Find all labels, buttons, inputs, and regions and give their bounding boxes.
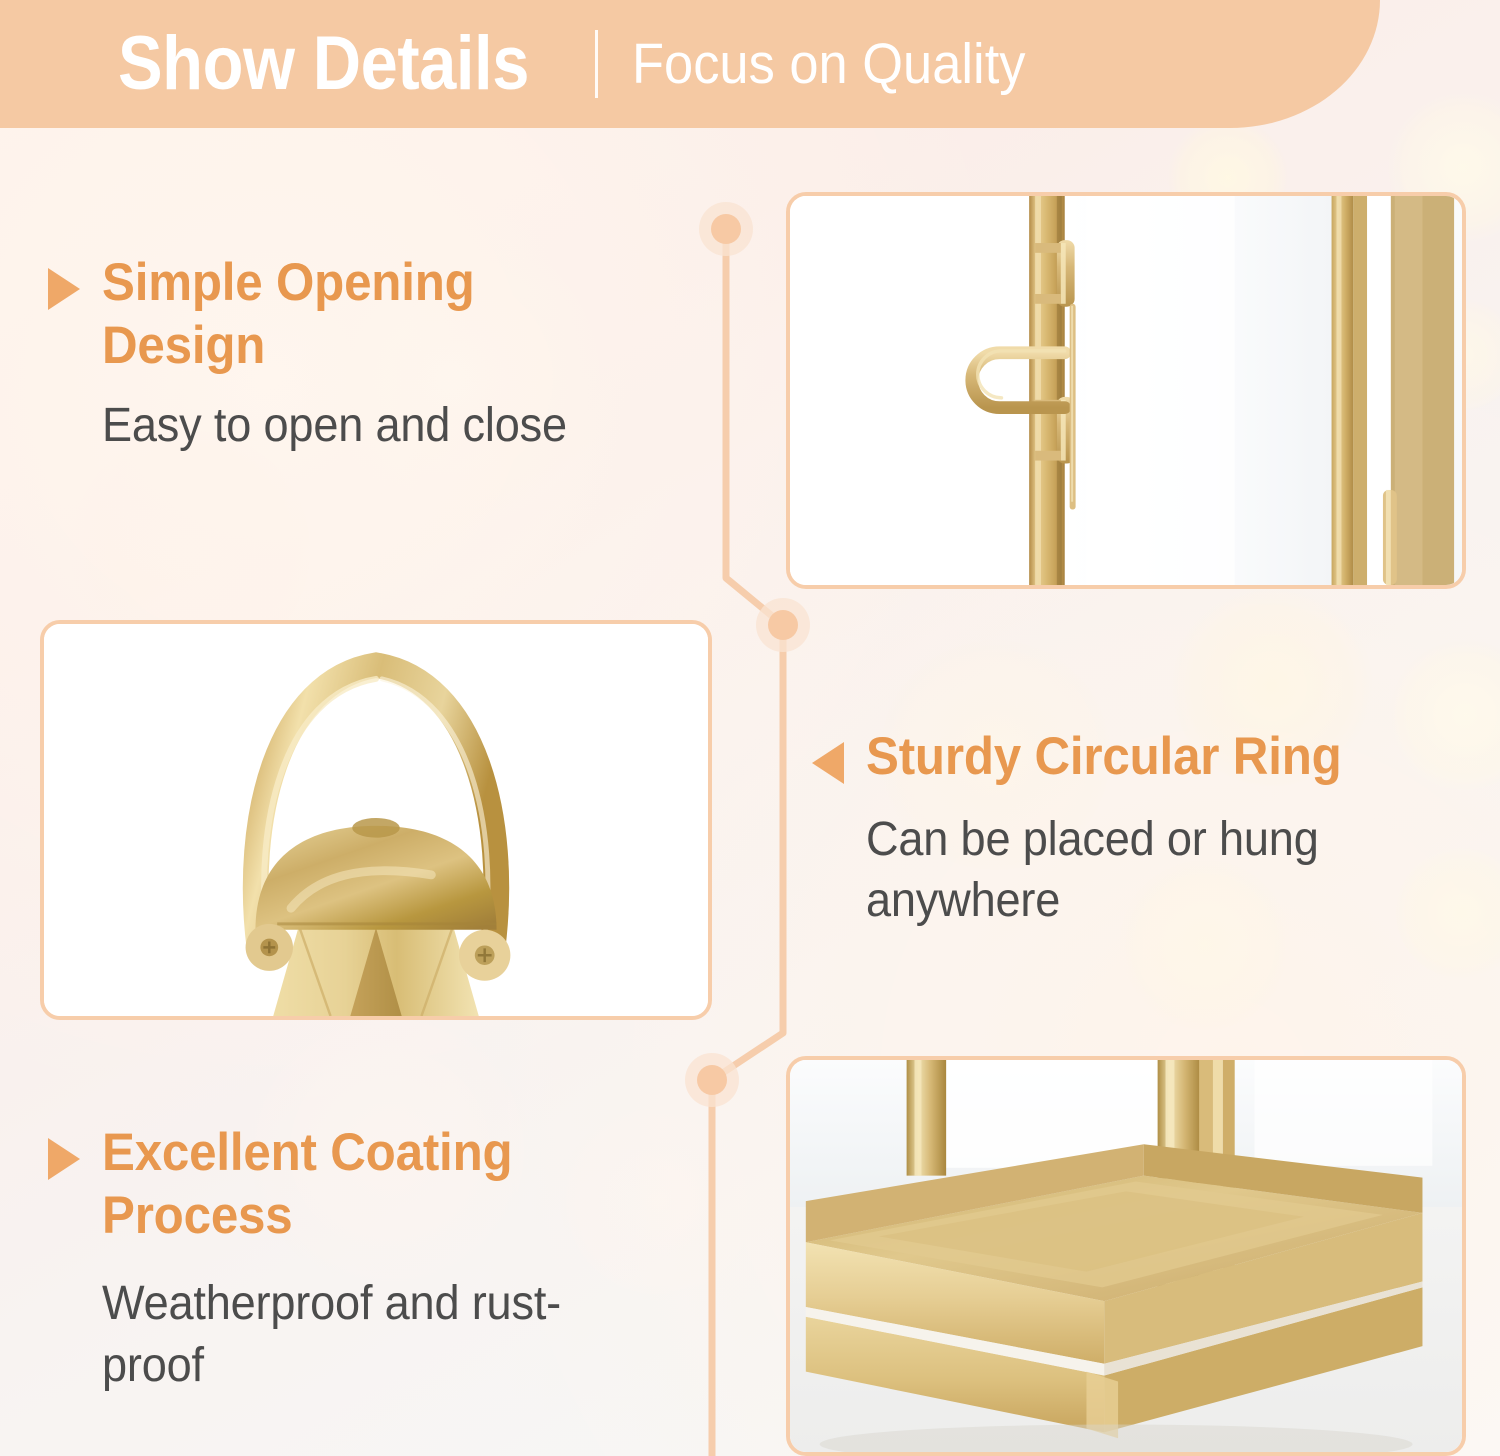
- base-coating-photo: [786, 1056, 1466, 1456]
- feature-description: Easy to open and close: [102, 395, 653, 456]
- page-title: Show Details: [118, 26, 529, 102]
- feature-description: Weatherproof and rust-proof: [102, 1273, 653, 1396]
- base-coating-illustration: [790, 1060, 1462, 1452]
- triangle-right-icon: [48, 1138, 80, 1180]
- connector-dot: [711, 214, 741, 244]
- feature-heading-row: Sturdy Circular Ring: [812, 726, 1462, 789]
- connector-dot-halo: [685, 1053, 739, 1107]
- handle-ring-illustration: [44, 624, 708, 1016]
- connector-dot-halo: [699, 202, 753, 256]
- header-banner: Show Details Focus on Quality: [0, 0, 1380, 128]
- connector-dot: [768, 610, 798, 640]
- hinge-latch-photo: [786, 192, 1466, 589]
- feature-title: Excellent Coating Process: [102, 1122, 647, 1247]
- triangle-left-icon: [812, 742, 844, 784]
- connector-path: [712, 229, 783, 1456]
- feature-heading-row: Simple Opening Design: [48, 252, 688, 377]
- header-divider: [595, 30, 598, 98]
- triangle-right-icon: [48, 268, 80, 310]
- connector-dot: [697, 1065, 727, 1095]
- feature-simple-opening-design: Simple Opening Design Easy to open and c…: [48, 252, 688, 457]
- hinge-latch-illustration: [790, 196, 1462, 585]
- infographic-page: Show Details Focus on Quality: [0, 0, 1500, 1456]
- feature-excellent-coating-process: Excellent Coating Process Weatherproof a…: [48, 1122, 688, 1396]
- feature-sturdy-circular-ring: Sturdy Circular Ring Can be placed or hu…: [812, 726, 1462, 931]
- connector-dot-halo: [756, 598, 810, 652]
- page-subtitle: Focus on Quality: [632, 36, 1025, 93]
- feature-title: Simple Opening Design: [102, 252, 647, 377]
- handle-ring-photo: [40, 620, 712, 1020]
- feature-description: Can be placed or hung anywhere: [866, 809, 1426, 932]
- feature-heading-row: Excellent Coating Process: [48, 1122, 688, 1247]
- feature-title: Sturdy Circular Ring: [866, 726, 1342, 789]
